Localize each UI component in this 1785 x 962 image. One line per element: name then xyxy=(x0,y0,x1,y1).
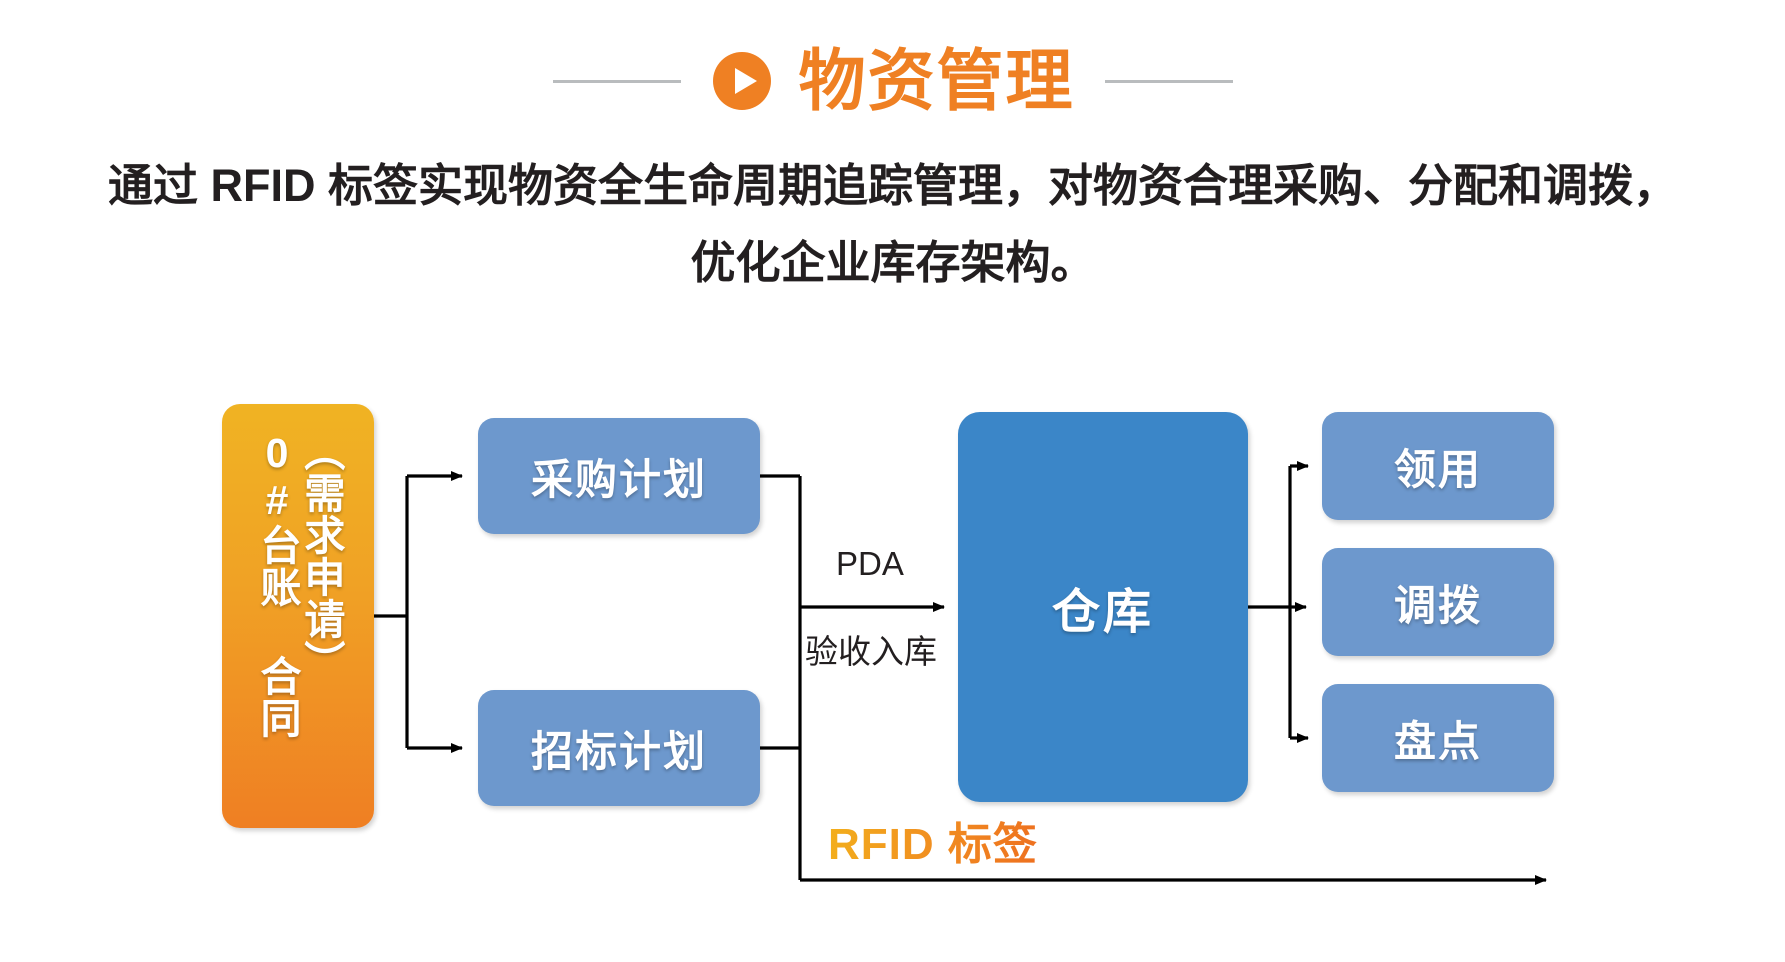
node-output-requisition[interactable]: 领用 xyxy=(1322,412,1554,520)
node-output-stocktake[interactable]: 盘点 xyxy=(1322,684,1554,792)
edge-label-receive-into-stock: 验收入库 xyxy=(805,625,937,673)
source-text-demand-application: （需求申请） xyxy=(299,430,341,682)
edge-label-rfid-tag: RFID 标签 xyxy=(828,808,1038,872)
node-bid-plan[interactable]: 招标计划 xyxy=(478,690,760,806)
node-purchase-plan[interactable]: 采购计划 xyxy=(478,418,760,534)
edge-label-pda: PDA xyxy=(836,545,904,583)
node-demand-application[interactable]: （需求申请） 0#台账 合同 xyxy=(222,404,374,828)
node-output-transfer[interactable]: 调拨 xyxy=(1322,548,1554,656)
source-text-ledger-contract: 0#台账 合同 xyxy=(255,430,297,739)
materials-flow-diagram: （需求申请） 0#台账 合同 采购计划 招标计划 仓库 领用 调拨 盘点 PDA… xyxy=(0,0,1785,962)
node-warehouse[interactable]: 仓库 xyxy=(958,412,1248,802)
